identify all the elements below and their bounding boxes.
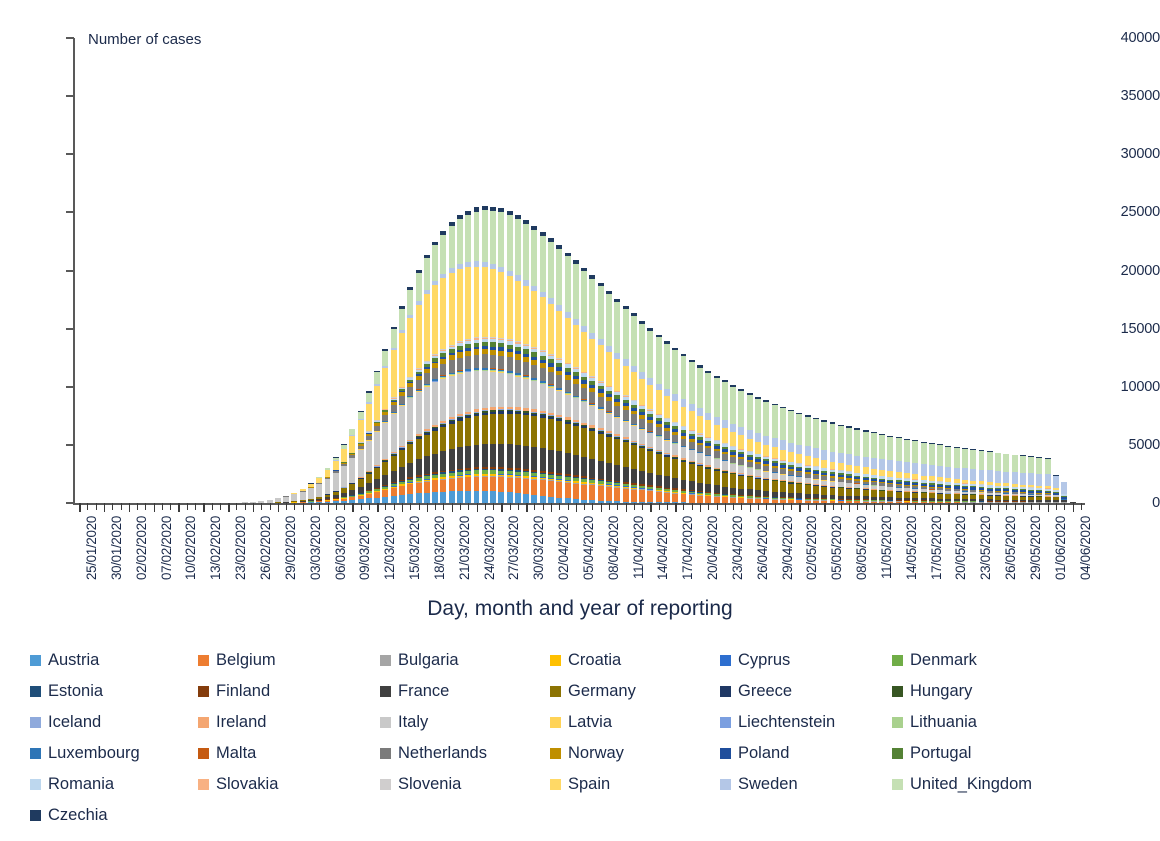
bar-column[interactable] [904, 439, 910, 503]
bar-segment [705, 420, 711, 437]
bar-column[interactable] [573, 260, 579, 503]
bar-column[interactable] [349, 429, 355, 503]
bar-column[interactable] [664, 341, 670, 503]
legend-item[interactable]: Austria [30, 651, 99, 670]
bar-segment [813, 448, 819, 458]
bar-segment [705, 484, 711, 492]
legend-item[interactable]: Italy [380, 713, 428, 732]
bar-segment [606, 414, 612, 431]
bar-segment [424, 482, 430, 493]
x-tick-mark [634, 503, 635, 510]
bar-column[interactable] [821, 420, 827, 503]
legend-swatch-icon [30, 686, 41, 697]
x-tick-label: 17/04/2020 [680, 516, 695, 580]
bar-column[interactable] [1020, 455, 1026, 503]
bar-segment [556, 375, 562, 387]
x-tick-label: 05/04/2020 [581, 516, 596, 580]
bar-column[interactable] [416, 270, 422, 503]
bar-segment [416, 459, 422, 475]
bar-segment [507, 357, 513, 371]
bar-column[interactable] [474, 207, 480, 503]
bar-column[interactable] [457, 215, 463, 503]
bar-column[interactable] [1003, 454, 1009, 503]
legend-item[interactable]: Lithuania [892, 713, 977, 732]
bar-column[interactable] [374, 371, 380, 503]
x-tick-mark [650, 503, 651, 512]
bar-column[interactable] [813, 418, 819, 503]
bar-segment [440, 480, 446, 492]
bar-segment [656, 454, 662, 475]
x-tick-label: 01/06/2020 [1053, 516, 1068, 580]
bar-segment [498, 212, 504, 266]
y-tick-label: 10000 [1094, 379, 1160, 395]
x-tick-mark [361, 503, 362, 510]
bar-segment [623, 309, 629, 359]
bar-segment [565, 395, 571, 418]
bar-column[interactable] [531, 226, 537, 503]
bar-segment [672, 494, 678, 503]
x-tick-mark [526, 503, 527, 512]
legend-label: Denmark [910, 651, 977, 670]
x-tick-mark [692, 503, 693, 510]
chart-legend: AustriaBelgiumBulgariaCroatiaCyprusDenma… [30, 645, 1150, 831]
bar-segment [722, 473, 728, 487]
x-tick-mark [626, 503, 627, 512]
x-axis-title: Day, month and year of reporting [0, 597, 1160, 621]
bar-column[interactable] [283, 496, 289, 503]
legend-item[interactable]: Norway [550, 744, 624, 763]
legend-item[interactable]: Cyprus [720, 651, 790, 670]
bar-column[interactable] [291, 493, 297, 503]
x-tick-mark [973, 503, 974, 512]
x-tick-mark [559, 503, 560, 510]
bar-segment [391, 496, 397, 503]
legend-item[interactable]: Denmark [892, 651, 977, 670]
x-tick-label: 26/05/2020 [1003, 516, 1018, 580]
bar-column[interactable] [887, 436, 893, 503]
legend-swatch-icon [892, 748, 903, 759]
bar-segment [623, 422, 629, 438]
bar-segment [308, 488, 314, 498]
bar-column[interactable] [647, 328, 653, 503]
legend-item[interactable]: United_Kingdom [892, 775, 1032, 794]
x-tick-mark [460, 503, 461, 510]
legend-item[interactable]: Iceland [30, 713, 101, 732]
bar-segment [474, 477, 480, 491]
bar-segment [697, 416, 703, 433]
bar-segment [681, 447, 687, 458]
bar-column[interactable] [945, 446, 951, 503]
x-tick-mark [278, 503, 279, 512]
legend-item[interactable]: Netherlands [380, 744, 487, 763]
x-tick-mark [899, 503, 900, 512]
x-tick-mark [352, 503, 353, 512]
bar-segment [689, 464, 695, 481]
x-tick-mark [741, 503, 742, 510]
legend-item[interactable]: Czechia [30, 806, 108, 825]
bar-segment [714, 471, 720, 486]
legend-swatch-icon [198, 717, 209, 728]
bar-segment [391, 414, 397, 452]
bar-segment [531, 291, 537, 347]
x-tick-mark [890, 503, 891, 510]
bar-segment [929, 465, 935, 476]
bar-segment [887, 437, 893, 461]
bar-segment [647, 451, 653, 473]
bar-column[interactable] [308, 483, 314, 503]
legend-item[interactable]: Slovenia [380, 775, 461, 794]
legend-item[interactable]: Luxembourg [30, 744, 140, 763]
bar-segment [747, 439, 753, 452]
bar-segment [548, 372, 554, 385]
bar-column[interactable] [730, 385, 736, 503]
bar-column[interactable] [979, 450, 985, 503]
bar-column[interactable] [540, 232, 546, 503]
bar-segment [374, 372, 380, 384]
bar-segment [681, 494, 687, 502]
bar-segment [424, 258, 430, 290]
bar-column[interactable] [523, 220, 529, 503]
y-tick-label: 0 [1094, 495, 1160, 511]
bar-column[interactable] [631, 313, 637, 503]
x-tick-mark [1023, 503, 1024, 512]
bar-column[interactable] [656, 335, 662, 503]
x-tick-mark [253, 503, 254, 512]
bar-column[interactable] [482, 206, 488, 503]
bar-segment [714, 459, 720, 468]
x-tick-label: 30/03/2020 [531, 516, 546, 580]
bar-segment [606, 401, 612, 411]
bar-column[interactable] [515, 215, 521, 503]
bar-column[interactable] [548, 238, 554, 503]
legend-item[interactable]: Ireland [198, 713, 266, 732]
x-tick-mark [857, 503, 858, 510]
bar-segment [647, 423, 653, 432]
bar-segment [821, 450, 827, 460]
bar-segment [614, 439, 620, 464]
bar-segment [540, 368, 546, 381]
bar-segment [449, 376, 455, 417]
bar-segment [606, 463, 612, 480]
bar-column[interactable] [1028, 456, 1034, 503]
bar-segment [639, 471, 645, 484]
bar-segment [647, 378, 653, 385]
bar-column[interactable] [333, 457, 339, 503]
bar-segment [391, 350, 397, 397]
bar-segment [399, 309, 405, 330]
bar-segment [772, 481, 778, 491]
x-tick-mark [328, 503, 329, 512]
bar-column[interactable] [879, 434, 885, 503]
bar-column[interactable] [830, 422, 836, 503]
bar-column[interactable] [490, 207, 496, 503]
bar-segment [639, 430, 645, 444]
legend-label: Norway [568, 744, 624, 763]
legend-swatch-icon [550, 779, 561, 790]
bar-segment [589, 279, 595, 333]
x-tick-mark [79, 503, 80, 512]
bar-segment [556, 421, 562, 451]
bar-column[interactable] [681, 354, 687, 503]
x-tick-label: 27/03/2020 [506, 516, 521, 580]
legend-item[interactable]: Malta [198, 744, 256, 763]
x-tick-mark [377, 503, 378, 512]
bar-column[interactable] [838, 425, 844, 504]
legend-label: Spain [568, 775, 610, 794]
bar-segment [424, 435, 430, 457]
bar-column[interactable] [300, 489, 306, 503]
bar-segment [498, 492, 504, 504]
x-tick-mark [344, 503, 345, 510]
x-tick-mark [733, 503, 734, 510]
x-tick-mark [170, 503, 171, 510]
bar-segment [664, 476, 670, 487]
bar-segment [921, 464, 927, 475]
x-tick-label: 30/01/2020 [109, 516, 124, 580]
legend-item[interactable]: Finland [198, 682, 270, 701]
legend-item[interactable]: Slovakia [198, 775, 278, 794]
bar-column[interactable] [341, 444, 347, 503]
x-tick-label: 20/04/2020 [705, 516, 720, 580]
bar-column[interactable] [962, 448, 968, 503]
bar-segment [465, 477, 471, 490]
bar-column[interactable] [954, 447, 960, 503]
bar-segment [747, 477, 753, 489]
bar-column[interactable] [407, 287, 413, 503]
x-tick-mark [369, 503, 370, 510]
bar-segment [979, 470, 985, 482]
bar-column[interactable] [854, 428, 860, 503]
legend-item[interactable]: Romania [30, 775, 114, 794]
bar-column[interactable] [581, 268, 587, 503]
bar-segment [813, 486, 819, 494]
legend-item[interactable]: Liechtenstein [720, 713, 835, 732]
legend-label: Netherlands [398, 744, 487, 763]
bar-segment [1012, 472, 1018, 484]
bar-segment [598, 286, 604, 339]
bar-column[interactable] [714, 376, 720, 503]
bar-column[interactable] [921, 442, 927, 503]
bar-segment [440, 427, 446, 451]
bar-column[interactable] [598, 283, 604, 503]
bar-segment [457, 269, 463, 341]
legend-item[interactable]: Estonia [30, 682, 103, 701]
bar-segment [681, 439, 687, 446]
bar-segment [813, 419, 819, 448]
legend-swatch-icon [380, 748, 391, 759]
bar-segment [970, 450, 976, 469]
x-tick-mark [112, 503, 113, 510]
bar-column[interactable] [391, 327, 397, 503]
x-tick-mark [667, 503, 668, 510]
legend-label: Greece [738, 682, 792, 701]
bar-column[interactable] [623, 306, 629, 503]
bar-column[interactable] [871, 432, 877, 503]
bar-segment [805, 446, 811, 456]
bar-column[interactable] [1012, 455, 1018, 503]
x-tick-mark [1006, 503, 1007, 510]
legend-label: Cyprus [738, 651, 790, 670]
bar-column[interactable] [399, 306, 405, 503]
bar-column[interactable] [987, 451, 993, 503]
bar-segment [523, 415, 529, 446]
legend-swatch-icon [30, 717, 41, 728]
bar-column[interactable] [796, 413, 802, 503]
bar-column[interactable] [722, 380, 728, 503]
bar-segment [465, 215, 471, 263]
bar-column[interactable] [747, 393, 753, 503]
bar-column[interactable] [465, 211, 471, 503]
bar-column[interactable] [863, 430, 869, 503]
bar-column[interactable] [846, 426, 852, 503]
bar-segment [681, 407, 687, 427]
bar-column[interactable] [755, 397, 761, 503]
bar-segment [854, 430, 860, 456]
bar-column[interactable] [763, 400, 769, 503]
bar-column[interactable] [738, 389, 744, 503]
bar-segment [772, 447, 778, 458]
y-tick-label: 35000 [1094, 88, 1160, 104]
bar-column[interactable] [672, 348, 678, 503]
bar-segment [391, 405, 397, 412]
legend-swatch-icon [892, 686, 903, 697]
bar-segment [474, 445, 480, 468]
bar-column[interactable] [507, 211, 513, 503]
bar-segment [399, 333, 405, 386]
legend-item[interactable]: Portugal [892, 744, 971, 763]
bar-column[interactable] [780, 407, 786, 503]
bar-column[interactable] [432, 242, 438, 503]
bar-segment [639, 448, 645, 471]
x-tick-mark [1015, 503, 1016, 510]
bar-column[interactable] [424, 255, 430, 503]
legend-label: Sweden [738, 775, 798, 794]
bar-segment [987, 452, 993, 470]
bar-segment [565, 256, 571, 311]
bar-segment [457, 421, 463, 447]
bar-segment [440, 364, 446, 376]
bar-column[interactable] [556, 245, 562, 503]
x-tick-mark [220, 503, 221, 510]
legend-item[interactable]: Bulgaria [380, 651, 459, 670]
bar-column[interactable] [937, 444, 943, 503]
bar-segment [821, 460, 827, 468]
bar-column[interactable] [440, 231, 446, 503]
bar-segment [374, 479, 380, 488]
bar-segment [830, 452, 836, 462]
bar-segment [581, 485, 587, 500]
bar-segment [1028, 457, 1034, 473]
bar-column[interactable] [498, 208, 504, 503]
x-tick-mark [501, 503, 502, 512]
bar-column[interactable] [929, 443, 935, 503]
bar-segment [407, 494, 413, 503]
bar-segment [664, 389, 670, 396]
bar-segment [738, 476, 744, 489]
bar-column[interactable] [805, 415, 811, 503]
bar-segment [763, 402, 769, 436]
bar-column[interactable] [565, 253, 571, 503]
bar-column[interactable] [896, 437, 902, 503]
bar-segment [962, 449, 968, 468]
bar-segment [374, 468, 380, 479]
bar-column[interactable] [614, 299, 620, 503]
bar-segment [416, 273, 422, 301]
legend-item[interactable]: Germany [550, 682, 636, 701]
bar-segment [465, 267, 471, 339]
legend-item[interactable]: Croatia [550, 651, 621, 670]
x-tick-mark [866, 503, 867, 510]
bar-column[interactable] [382, 349, 388, 503]
bar-segment [656, 390, 662, 413]
legend-item[interactable]: Sweden [720, 775, 798, 794]
x-tick-label: 14/04/2020 [655, 516, 670, 580]
bar-column[interactable] [325, 468, 331, 503]
bar-column[interactable] [589, 275, 595, 503]
x-tick-mark [990, 503, 991, 510]
legend-item[interactable]: Hungary [892, 682, 972, 701]
bar-column[interactable] [912, 440, 918, 503]
bar-segment [333, 473, 339, 491]
bar-segment [838, 463, 844, 470]
bar-column[interactable] [788, 410, 794, 503]
bar-column[interactable] [1053, 475, 1059, 503]
bar-column[interactable] [970, 449, 976, 503]
legend-item[interactable]: France [380, 682, 449, 701]
bar-segment [904, 462, 910, 473]
bar-segment [540, 448, 546, 471]
bar-column[interactable] [689, 360, 695, 503]
bar-segment [589, 431, 595, 459]
x-tick-mark [178, 503, 179, 512]
bar-column[interactable] [697, 365, 703, 503]
bar-column[interactable] [316, 477, 322, 503]
bar-segment [672, 444, 678, 455]
plot-wrapper: Number of cases 050001000015000200002500… [0, 0, 1160, 600]
bar-segment [606, 294, 612, 346]
bar-column[interactable] [358, 411, 364, 503]
bar-segment [457, 219, 463, 264]
bar-segment [697, 496, 703, 503]
bar-segment [689, 404, 695, 411]
bar-column[interactable] [449, 222, 455, 503]
x-tick-mark [195, 503, 196, 510]
bar-column[interactable] [705, 371, 711, 503]
bar-column[interactable] [772, 404, 778, 503]
bar-column[interactable] [639, 321, 645, 503]
bar-column[interactable] [995, 453, 1001, 503]
legend-item[interactable]: Spain [550, 775, 610, 794]
bar-segment [515, 478, 521, 493]
legend-label: Germany [568, 682, 636, 701]
bar-segment [432, 431, 438, 454]
x-tick-mark [534, 503, 535, 510]
legend-item[interactable]: Belgium [198, 651, 276, 670]
legend-item[interactable]: Latvia [550, 713, 612, 732]
bar-column[interactable] [1061, 482, 1067, 503]
bar-column[interactable] [366, 391, 372, 503]
x-tick-label: 23/02/2020 [233, 516, 248, 580]
bar-segment [954, 468, 960, 479]
x-tick-mark [510, 503, 511, 510]
bar-column[interactable] [1045, 458, 1051, 503]
legend-item[interactable]: Greece [720, 682, 792, 701]
legend-label: Estonia [48, 682, 103, 701]
bar-column[interactable] [1036, 457, 1042, 503]
bar-column[interactable] [606, 291, 612, 503]
legend-item[interactable]: Poland [720, 744, 789, 763]
bar-segment [515, 493, 521, 503]
